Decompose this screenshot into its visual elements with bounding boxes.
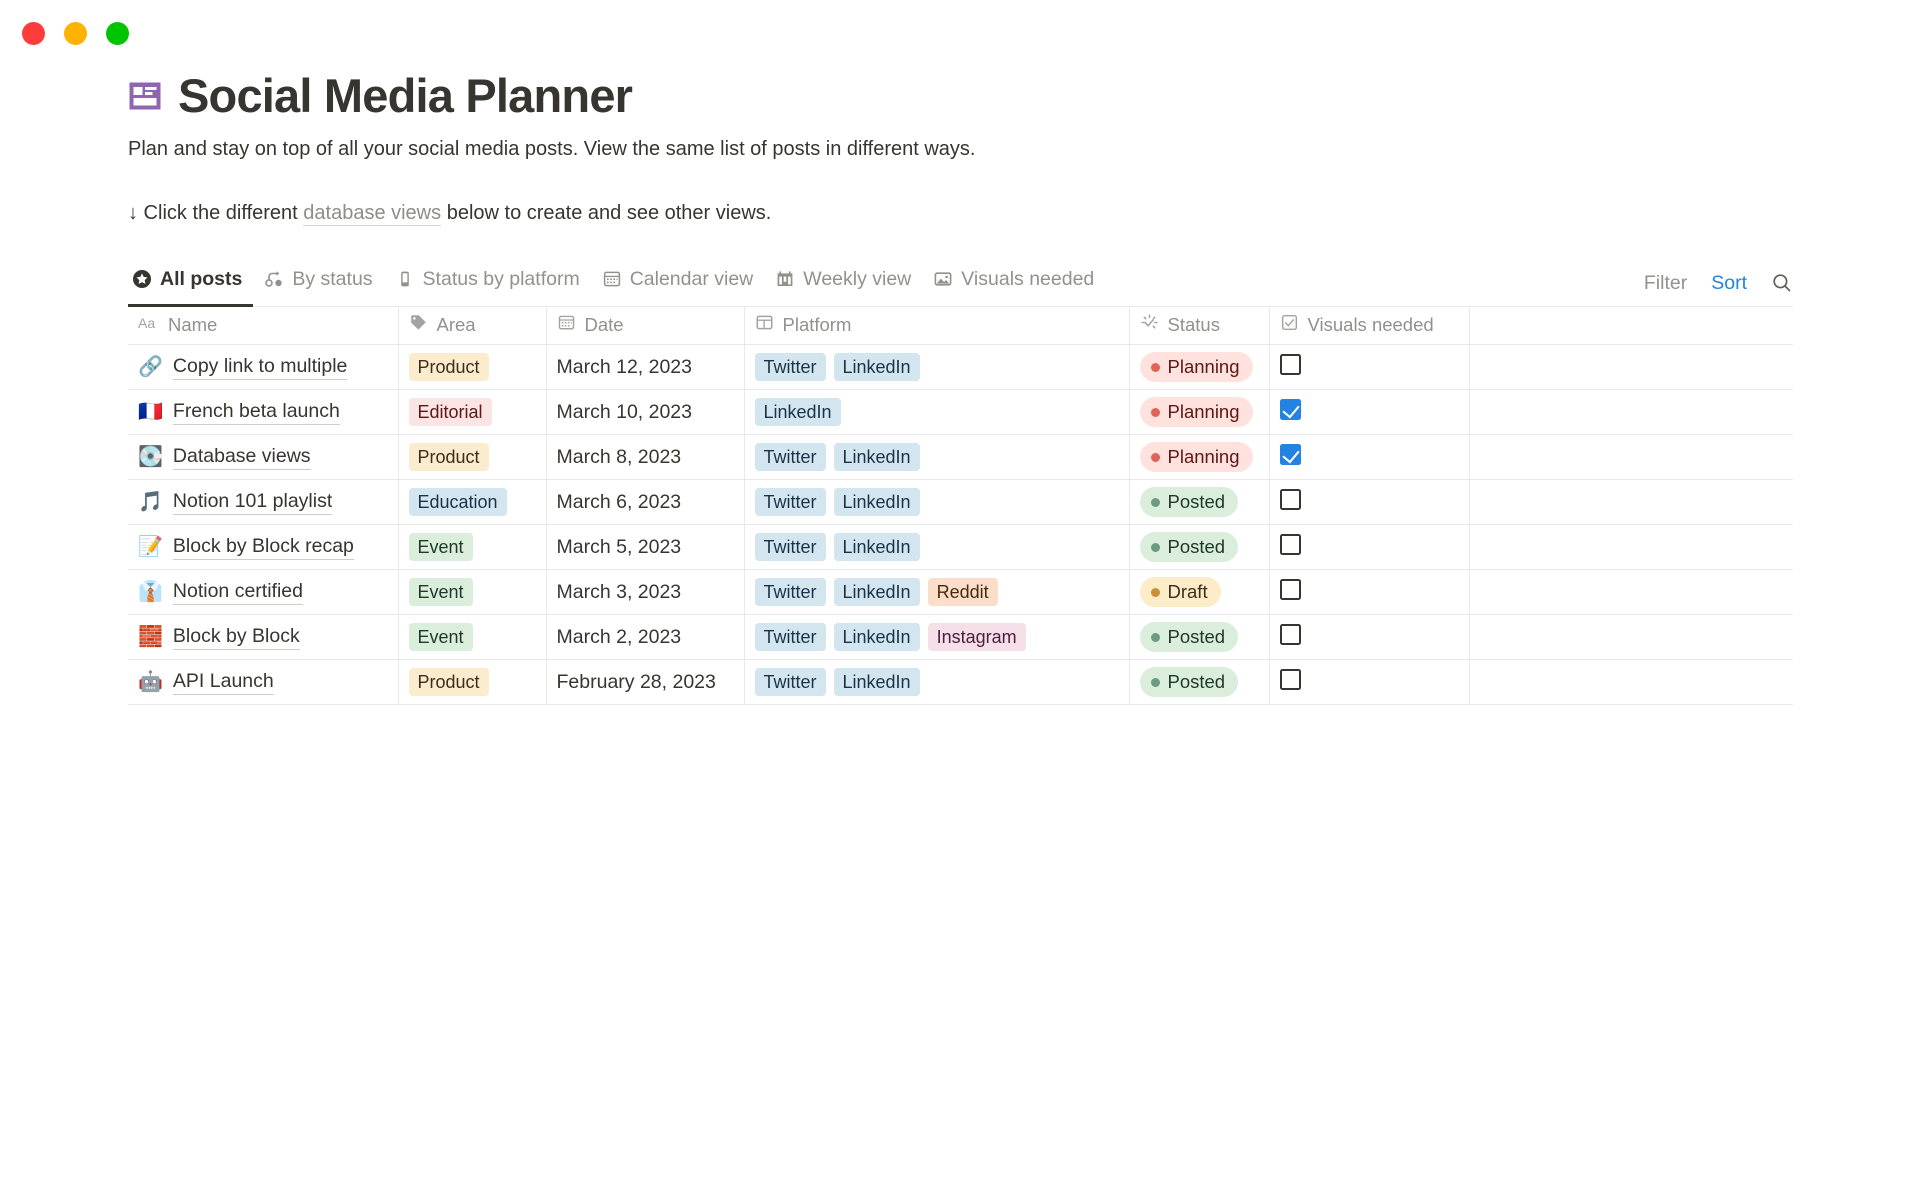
platform-tag: LinkedIn	[834, 353, 920, 382]
cell-name[interactable]: 🇫🇷French beta launch	[128, 390, 398, 435]
search-icon[interactable]	[1771, 272, 1793, 294]
platform-tag: LinkedIn	[834, 668, 920, 697]
platform-tag: Twitter	[755, 533, 826, 562]
tab-all-posts[interactable]: All posts	[128, 264, 253, 306]
table-row[interactable]: 🔗Copy link to multipleProductMarch 12, 2…	[128, 345, 1793, 390]
status-badge: Posted	[1140, 532, 1239, 562]
visuals-needed-checkbox[interactable]	[1280, 444, 1301, 465]
cell-empty	[1469, 525, 1793, 570]
column-header-area[interactable]: Area	[398, 307, 546, 345]
cell-visuals-needed[interactable]	[1269, 345, 1469, 390]
tab-visuals-needed[interactable]: Visuals needed	[922, 264, 1105, 306]
platform-tag: LinkedIn	[834, 443, 920, 472]
row-title[interactable]: French beta launch	[173, 400, 340, 425]
cell-area[interactable]: Product	[398, 660, 546, 705]
cell-platform[interactable]: TwitterLinkedIn	[744, 435, 1129, 480]
cell-name[interactable]: 🧱Block by Block	[128, 615, 398, 660]
view-tab-list: All posts By status	[128, 264, 1105, 306]
status-label: Planning	[1168, 356, 1240, 378]
column-header-name[interactable]: Aa Name	[128, 307, 398, 345]
status-label: Planning	[1168, 401, 1240, 423]
cell-status[interactable]: Posted	[1129, 480, 1269, 525]
tab-calendar-view[interactable]: Calendar view	[591, 264, 765, 306]
image-icon	[933, 269, 953, 289]
platform-tag: Twitter	[755, 578, 826, 607]
platform-tag: Twitter	[755, 623, 826, 652]
cell-status[interactable]: Draft	[1129, 570, 1269, 615]
cell-area[interactable]: Event	[398, 570, 546, 615]
status-dot-icon	[1151, 498, 1160, 507]
tab-label: Calendar view	[630, 268, 754, 291]
svg-text:Aa: Aa	[138, 315, 155, 331]
platform-tag: Twitter	[755, 353, 826, 382]
status-badge: Draft	[1140, 577, 1221, 607]
cell-platform[interactable]: TwitterLinkedInInstagram	[744, 615, 1129, 660]
tab-label: Weekly view	[803, 268, 911, 291]
row-title[interactable]: Notion 101 playlist	[173, 490, 332, 515]
column-header-add[interactable]	[1469, 307, 1793, 345]
cell-name[interactable]: 🔗Copy link to multiple	[128, 345, 398, 390]
status-label: Draft	[1168, 581, 1208, 603]
multi-select-icon	[755, 313, 774, 337]
cell-empty	[1469, 570, 1793, 615]
posts-table: Aa Name Area	[128, 307, 1793, 706]
cell-date[interactable]: March 6, 2023	[546, 480, 744, 525]
cell-status[interactable]: Planning	[1129, 390, 1269, 435]
cell-platform[interactable]: TwitterLinkedIn	[744, 660, 1129, 705]
platform-tag: LinkedIn	[834, 533, 920, 562]
cell-empty	[1469, 615, 1793, 660]
tab-label: Status by platform	[423, 268, 580, 291]
status-dot-icon	[1151, 408, 1160, 417]
visuals-needed-checkbox[interactable]	[1280, 399, 1301, 420]
tab-label: Visuals needed	[961, 268, 1094, 291]
necktie-emoji: 👔	[138, 582, 163, 602]
cell-name[interactable]: 🤖API Launch	[128, 660, 398, 705]
area-tag: Editorial	[409, 398, 492, 427]
column-label: Platform	[783, 314, 852, 336]
checkbox-icon	[1280, 313, 1299, 337]
cell-date[interactable]: March 10, 2023	[546, 390, 744, 435]
computer-disk-emoji: 💽	[138, 447, 163, 467]
filter-button[interactable]: Filter	[1644, 272, 1687, 295]
cell-empty	[1469, 660, 1793, 705]
status-spinner-icon	[1140, 313, 1159, 337]
newspaper-layout-icon	[128, 79, 162, 113]
cell-status[interactable]: Posted	[1129, 660, 1269, 705]
table-row[interactable]: 🤖API LaunchProductFebruary 28, 2023Twitt…	[128, 660, 1793, 705]
cell-name[interactable]: 💽Database views	[128, 435, 398, 480]
tab-by-status[interactable]: By status	[253, 264, 383, 306]
status-dot-icon	[1151, 453, 1160, 462]
visuals-needed-checkbox[interactable]	[1280, 579, 1301, 600]
area-tag: Product	[409, 668, 489, 697]
cell-visuals-needed[interactable]	[1269, 480, 1469, 525]
cell-date[interactable]: February 28, 2023	[546, 660, 744, 705]
cell-empty	[1469, 435, 1793, 480]
column-label: Visuals needed	[1308, 314, 1434, 336]
visuals-needed-checkbox[interactable]	[1280, 354, 1301, 375]
cell-empty	[1469, 345, 1793, 390]
column-header-visuals-needed[interactable]: Visuals needed	[1269, 307, 1469, 345]
tab-label: All posts	[160, 268, 242, 291]
cell-date[interactable]: March 3, 2023	[546, 570, 744, 615]
cell-visuals-needed[interactable]	[1269, 615, 1469, 660]
column-label: Status	[1168, 314, 1220, 336]
cell-status[interactable]: Posted	[1129, 525, 1269, 570]
france-flag-emoji: 🇫🇷	[138, 402, 163, 422]
timetable-icon	[775, 269, 795, 289]
visuals-needed-checkbox[interactable]	[1280, 669, 1301, 690]
cell-name[interactable]: 📝Block by Block recap	[128, 525, 398, 570]
table-body: 🔗Copy link to multipleProductMarch 12, 2…	[128, 345, 1793, 705]
database-views-link[interactable]: database views	[303, 202, 441, 226]
group-board-icon	[264, 269, 284, 289]
robot-emoji: 🤖	[138, 672, 163, 692]
column-label: Area	[437, 314, 476, 336]
column-label: Date	[585, 314, 624, 336]
cell-date[interactable]: March 2, 2023	[546, 615, 744, 660]
maximize-button[interactable]	[106, 22, 129, 45]
cell-date[interactable]: March 12, 2023	[546, 345, 744, 390]
text-type-icon: Aa	[138, 314, 159, 336]
table-header-row: Aa Name Area	[128, 307, 1793, 345]
visuals-needed-checkbox[interactable]	[1280, 489, 1301, 510]
mobile-list-icon	[395, 269, 415, 289]
row-title[interactable]: Block by Block	[173, 625, 300, 650]
star-badge-icon	[132, 269, 152, 289]
tab-status-by-platform[interactable]: Status by platform	[384, 264, 591, 306]
cell-visuals-needed[interactable]	[1269, 525, 1469, 570]
memo-emoji: 📝	[138, 537, 163, 557]
status-badge: Posted	[1140, 667, 1239, 697]
table-row[interactable]: 👔Notion certifiedEventMarch 3, 2023Twitt…	[128, 570, 1793, 615]
hint-suffix: below to create and see other views.	[441, 202, 771, 224]
platform-tag: LinkedIn	[834, 623, 920, 652]
cell-platform[interactable]: TwitterLinkedIn	[744, 525, 1129, 570]
close-button[interactable]	[22, 22, 45, 45]
cell-platform[interactable]: TwitterLinkedIn	[744, 345, 1129, 390]
cell-platform[interactable]: TwitterLinkedIn	[744, 480, 1129, 525]
platform-tag: LinkedIn	[834, 578, 920, 607]
view-actions: Filter Sort	[1644, 272, 1793, 306]
row-title[interactable]: Copy link to multiple	[173, 355, 348, 380]
platform-tag: Twitter	[755, 443, 826, 472]
area-tag: Event	[409, 578, 473, 607]
calendar-icon	[602, 269, 622, 289]
status-badge: Posted	[1140, 622, 1239, 652]
cell-area[interactable]: Event	[398, 615, 546, 660]
status-badge: Planning	[1140, 352, 1253, 382]
cell-visuals-needed[interactable]	[1269, 660, 1469, 705]
table-row[interactable]: 💽Database viewsProductMarch 8, 2023Twitt…	[128, 435, 1793, 480]
visuals-needed-checkbox[interactable]	[1280, 534, 1301, 555]
cell-area[interactable]: Product	[398, 345, 546, 390]
cell-area[interactable]: Product	[398, 435, 546, 480]
area-tag: Education	[409, 488, 507, 517]
status-label: Posted	[1168, 626, 1226, 648]
sort-button[interactable]: Sort	[1711, 272, 1747, 295]
visuals-needed-checkbox[interactable]	[1280, 624, 1301, 645]
row-title[interactable]: API Launch	[173, 670, 274, 695]
page-content: Social Media Planner Plan and stay on to…	[128, 70, 1808, 705]
area-tag: Product	[409, 353, 489, 382]
cell-empty	[1469, 480, 1793, 525]
cell-platform[interactable]: TwitterLinkedInReddit	[744, 570, 1129, 615]
brick-emoji: 🧱	[138, 627, 163, 647]
status-dot-icon	[1151, 588, 1160, 597]
tab-label: By status	[292, 268, 372, 291]
cell-status[interactable]: Planning	[1129, 435, 1269, 480]
cell-area[interactable]: Education	[398, 480, 546, 525]
table-row[interactable]: 📝Block by Block recapEventMarch 5, 2023T…	[128, 525, 1793, 570]
music-note-emoji: 🎵	[138, 492, 163, 512]
platform-tag: Instagram	[928, 623, 1026, 652]
status-dot-icon	[1151, 363, 1160, 372]
table-row[interactable]: 🎵Notion 101 playlistEducationMarch 6, 20…	[128, 480, 1793, 525]
tag-icon	[409, 313, 428, 337]
cell-date[interactable]: March 5, 2023	[546, 525, 744, 570]
link-emoji: 🔗	[138, 357, 163, 377]
status-dot-icon	[1151, 543, 1160, 552]
area-tag: Event	[409, 623, 473, 652]
tab-weekly-view[interactable]: Weekly view	[764, 264, 922, 306]
platform-tag: Reddit	[928, 578, 998, 607]
column-header-date[interactable]: Date	[546, 307, 744, 345]
row-title[interactable]: Database views	[173, 445, 311, 470]
cell-status[interactable]: Planning	[1129, 345, 1269, 390]
cell-area[interactable]: Editorial	[398, 390, 546, 435]
row-title[interactable]: Notion certified	[173, 580, 303, 605]
column-header-status[interactable]: Status	[1129, 307, 1269, 345]
status-label: Posted	[1168, 671, 1226, 693]
status-badge: Posted	[1140, 487, 1239, 517]
row-title[interactable]: Block by Block recap	[173, 535, 354, 560]
cell-name[interactable]: 👔Notion certified	[128, 570, 398, 615]
database-views-hint: ↓ Click the different database views bel…	[128, 198, 1808, 229]
table-row[interactable]: 🧱Block by BlockEventMarch 2, 2023Twitter…	[128, 615, 1793, 660]
calendar-icon	[557, 313, 576, 337]
cell-status[interactable]: Posted	[1129, 615, 1269, 660]
cell-visuals-needed[interactable]	[1269, 570, 1469, 615]
column-label: Name	[168, 314, 217, 336]
cell-area[interactable]: Event	[398, 525, 546, 570]
database-views-bar: All posts By status	[128, 265, 1793, 307]
column-header-platform[interactable]: Platform	[744, 307, 1129, 345]
status-badge: Planning	[1140, 442, 1253, 472]
cell-platform[interactable]: LinkedIn	[744, 390, 1129, 435]
platform-tag: Twitter	[755, 488, 826, 517]
platform-tag: LinkedIn	[755, 398, 841, 427]
platform-tag: LinkedIn	[834, 488, 920, 517]
window-controls	[22, 22, 129, 45]
cell-name[interactable]: 🎵Notion 101 playlist	[128, 480, 398, 525]
page-title: Social Media Planner	[178, 70, 632, 122]
platform-tag: Twitter	[755, 668, 826, 697]
area-tag: Event	[409, 533, 473, 562]
cell-empty	[1469, 390, 1793, 435]
status-dot-icon	[1151, 633, 1160, 642]
table-row[interactable]: 🇫🇷French beta launchEditorialMarch 10, 2…	[128, 390, 1793, 435]
hint-prefix: ↓ Click the different	[128, 202, 303, 224]
minimize-button[interactable]	[64, 22, 87, 45]
cell-visuals-needed[interactable]	[1269, 390, 1469, 435]
cell-date[interactable]: March 8, 2023	[546, 435, 744, 480]
cell-visuals-needed[interactable]	[1269, 435, 1469, 480]
status-dot-icon	[1151, 678, 1160, 687]
page-subtitle: Plan and stay on top of all your social …	[128, 134, 1808, 165]
area-tag: Product	[409, 443, 489, 472]
status-label: Posted	[1168, 536, 1226, 558]
status-label: Posted	[1168, 491, 1226, 513]
status-badge: Planning	[1140, 397, 1253, 427]
page-header: Social Media Planner	[128, 70, 1808, 122]
status-label: Planning	[1168, 446, 1240, 468]
